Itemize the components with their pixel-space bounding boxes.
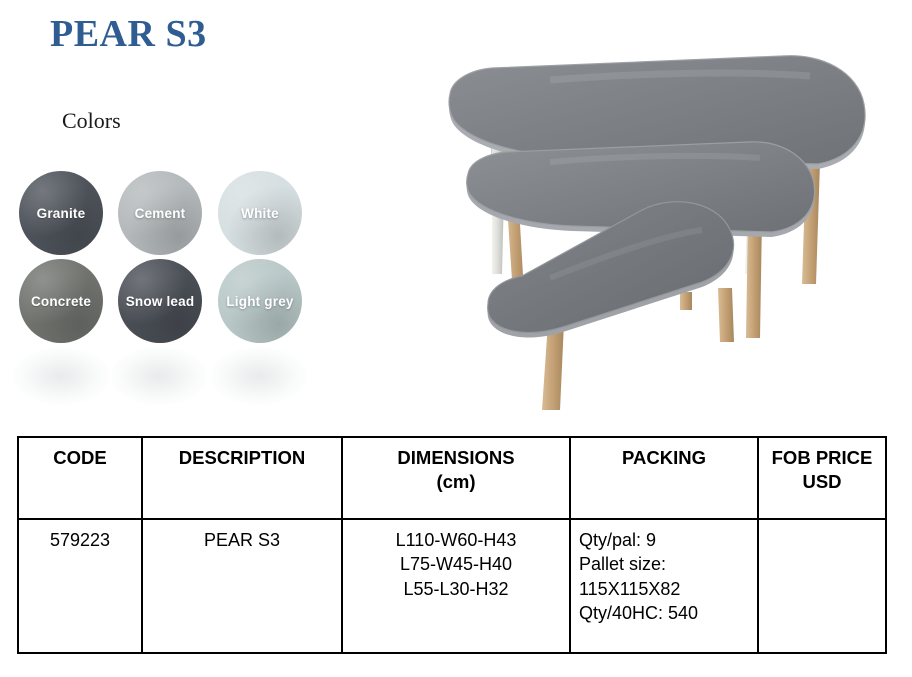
cell-code: 579223 [18,519,142,653]
nesting-tables-illustration [430,42,900,422]
header-line: DESCRIPTION [149,446,335,470]
color-swatch-label: Light grey [226,294,293,309]
cell-fob-price[interactable] [758,519,886,653]
color-swatch-cement[interactable]: Cement [118,171,202,255]
table-row: 579223 PEAR S3 L110-W60-H43 L75-W45-H40 … [18,519,886,653]
product-photo [430,42,900,422]
column-header-dimensions: DIMENSIONS (cm) [342,437,570,519]
cell-description: PEAR S3 [142,519,342,653]
color-swatch-concrete[interactable]: Concrete [19,259,103,343]
color-swatch-label: Granite [37,206,86,221]
code-value: 579223 [25,528,135,552]
header-line: DIMENSIONS [349,446,563,470]
header-line: FOB PRICE [765,446,879,470]
dimension-line: L55-L30-H32 [349,577,563,601]
cell-dimensions: L110-W60-H43 L75-W45-H40 L55-L30-H32 [342,519,570,653]
packing-line: Pallet size: [579,552,751,576]
spec-table: CODE DESCRIPTION DIMENSIONS (cm) PACKING… [17,436,887,654]
header-line-currency: USD [765,470,879,494]
column-header-description: DESCRIPTION [142,437,342,519]
color-swatch-label: Snow lead [126,294,195,309]
color-swatch-grid: Granite Cement White Concrete Snow lead … [19,171,329,351]
swatch-reflection [211,347,307,405]
header-line: PACKING [577,446,751,470]
dimension-line: L75-W45-H40 [349,552,563,576]
color-swatch-granite[interactable]: Granite [19,171,103,255]
color-swatch-snow-lead[interactable]: Snow lead [118,259,202,343]
page-title: PEAR S3 [50,12,207,56]
dimension-line: L110-W60-H43 [349,528,563,552]
color-swatch-label: White [241,206,279,221]
header-line-unit: (cm) [349,470,563,494]
packing-line: Qty/pal: 9 [579,528,751,552]
column-header-packing: PACKING [570,437,758,519]
header-line: CODE [25,446,135,470]
color-swatch-label: Concrete [31,294,91,309]
column-header-code: CODE [18,437,142,519]
table-header-row: CODE DESCRIPTION DIMENSIONS (cm) PACKING… [18,437,886,519]
cell-packing: Qty/pal: 9 Pallet size: 115X115X82 Qty/4… [570,519,758,653]
color-swatch-light-grey[interactable]: Light grey [218,259,302,343]
packing-line: Qty/40HC: 540 [579,601,751,625]
swatch-reflection [13,347,109,405]
color-swatch-label: Cement [135,206,186,221]
colors-section-label: Colors [62,108,121,134]
swatch-reflection [111,347,207,405]
color-swatch-white[interactable]: White [218,171,302,255]
packing-line: 115X115X82 [579,577,751,601]
column-header-fob-price: FOB PRICE USD [758,437,886,519]
description-value: PEAR S3 [149,528,335,552]
spec-table-container: CODE DESCRIPTION DIMENSIONS (cm) PACKING… [17,436,885,654]
